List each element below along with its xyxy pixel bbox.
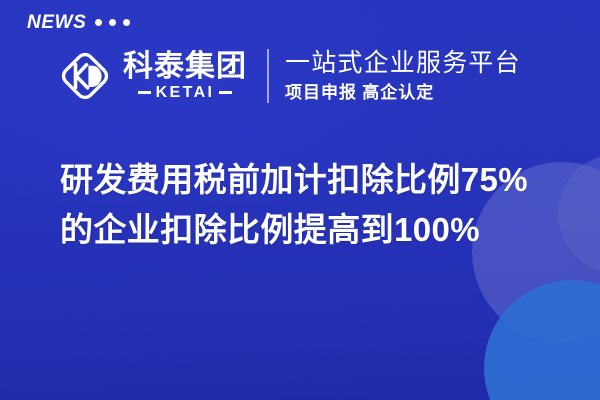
news-dot-3 <box>123 19 130 26</box>
logo-rule-right <box>219 91 232 94</box>
news-dot-2 <box>109 19 116 26</box>
slogan-sub: 项目申报 高企认定 <box>285 83 521 103</box>
logo-wordmark: 科泰集团 KETAI <box>123 51 247 100</box>
news-label: NEWS <box>27 13 86 32</box>
headline-line-2: 的企业扣除比例提高到100% <box>60 205 560 255</box>
ketai-diamond-kd-logo-icon <box>55 46 115 106</box>
logo-name-en: KETAI <box>156 85 215 101</box>
news-tag: NEWS <box>27 13 130 32</box>
brand-row: 科泰集团 KETAI 一站式企业服务平台 项目申报 高企认定 <box>55 46 521 106</box>
news-banner: NEWS 科泰集团 KETAI <box>0 0 600 400</box>
slogan-main: 一站式企业服务平台 <box>285 49 521 79</box>
slogan-block: 一站式企业服务平台 项目申报 高企认定 <box>285 49 521 103</box>
decorative-circle-soft <box>558 154 600 274</box>
logo-latin-row: KETAI <box>138 85 233 101</box>
logo-rule-left <box>138 91 151 94</box>
decorative-circle-bright <box>484 280 600 400</box>
news-dot-1 <box>95 19 102 26</box>
logo-name-cn: 科泰集团 <box>123 51 247 83</box>
headline: 研发费用税前加计扣除比例75% 的企业扣除比例提高到100% <box>60 155 560 255</box>
brand-divider <box>267 49 269 103</box>
news-dots-icon <box>95 19 130 26</box>
headline-line-1: 研发费用税前加计扣除比例75% <box>60 155 560 205</box>
